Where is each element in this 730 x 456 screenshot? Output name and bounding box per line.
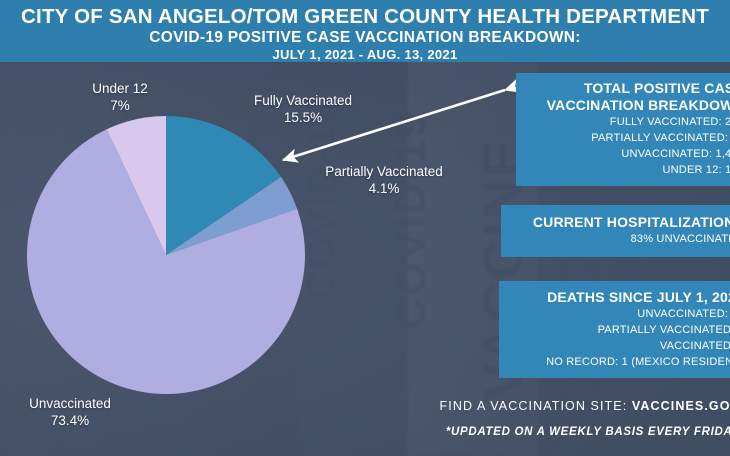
header-subtitle: COVID-19 POSITIVE CASE VACCINATION BREAK… (0, 29, 730, 47)
hospitalizations-box-row-unvaccinated: 83% UNVACCINATED (511, 231, 730, 247)
total-box-title-line2: VACCINATION BREAKDOWN (526, 97, 730, 114)
total-box-title-line1: TOTAL POSITIVE CASE (526, 80, 730, 97)
header-bar: CITY OF SAN ANGELO/TOM GREEN COUNTY HEAL… (0, 0, 730, 62)
vaccines-gov-link[interactable]: VACCINES.GOV (632, 399, 730, 413)
find-vaccination-site-prefix: FIND A VACCINATION SITE: (440, 399, 632, 413)
total-positive-case-box: TOTAL POSITIVE CASE VACCINATION BREAKDOW… (516, 73, 730, 186)
pie-label-partially-vaccinated-name: Partially Vaccinated (299, 163, 469, 180)
pie-slice-group (27, 116, 305, 394)
pie-label-partially-vaccinated-value: 4.1% (299, 180, 469, 197)
pie-label-unvaccinated: Unvaccinated 73.4% (5, 395, 135, 429)
pie-label-fully-vaccinated: Fully Vaccinated 15.5% (228, 92, 378, 126)
pie-chart (26, 115, 306, 395)
current-hospitalizations-box: CURRENT HOSPITALIZATIONS 83% UNVACCINATE… (501, 205, 730, 257)
pie-label-under-12-value: 7% (60, 97, 180, 114)
deaths-box-row-unvaccinated: UNVACCINATED: 14 (509, 306, 730, 322)
pie-label-unvaccinated-name: Unvaccinated (5, 395, 135, 412)
deaths-box-row-vaccinated: VACCINATED: 3 (509, 338, 730, 354)
pie-label-unvaccinated-value: 73.4% (5, 412, 135, 429)
pie-label-under-12: Under 12 7% (60, 80, 180, 114)
total-box-row-unvaccinated: UNVACCINATED: 1,413 (526, 146, 730, 162)
deaths-box-title: DEATHS SINCE JULY 1, 2021 (509, 289, 730, 306)
pie-label-under-12-name: Under 12 (60, 80, 180, 97)
infographic-canvas: COVID-19 COVID-19 VACCINE VACCINE VACCIN… (0, 0, 730, 456)
find-vaccination-site-text: FIND A VACCINATION SITE: VACCINES.GOV (340, 399, 730, 413)
deaths-box-row-partially: PARTIALLY VACCINATED: 1 (509, 322, 730, 338)
header-title: CITY OF SAN ANGELO/TOM GREEN COUNTY HEAL… (0, 0, 730, 29)
pie-chart-svg (26, 115, 306, 395)
pie-label-fully-vaccinated-value: 15.5% (228, 109, 378, 126)
pie-label-fully-vaccinated-name: Fully Vaccinated (228, 92, 378, 109)
header-date-range: JULY 1, 2021 - AUG. 13, 2021 (0, 47, 730, 63)
total-box-row-partially: PARTIALLY VACCINATED: 78 (526, 130, 730, 146)
total-box-row-under-12: UNDER 12: 135 (526, 162, 730, 178)
total-box-row-fully: FULLY VACCINATED: 299 (526, 114, 730, 130)
update-frequency-note: *UPDATED ON A WEEKLY BASIS EVERY FRIDAY (340, 426, 730, 438)
deaths-box: DEATHS SINCE JULY 1, 2021 UNVACCINATED: … (499, 281, 730, 378)
pie-label-partially-vaccinated: Partially Vaccinated 4.1% (299, 163, 469, 197)
hospitalizations-box-title: CURRENT HOSPITALIZATIONS (511, 214, 730, 231)
deaths-box-row-no-record: NO RECORD: 1 (MEXICO RESIDENT) (509, 354, 730, 370)
